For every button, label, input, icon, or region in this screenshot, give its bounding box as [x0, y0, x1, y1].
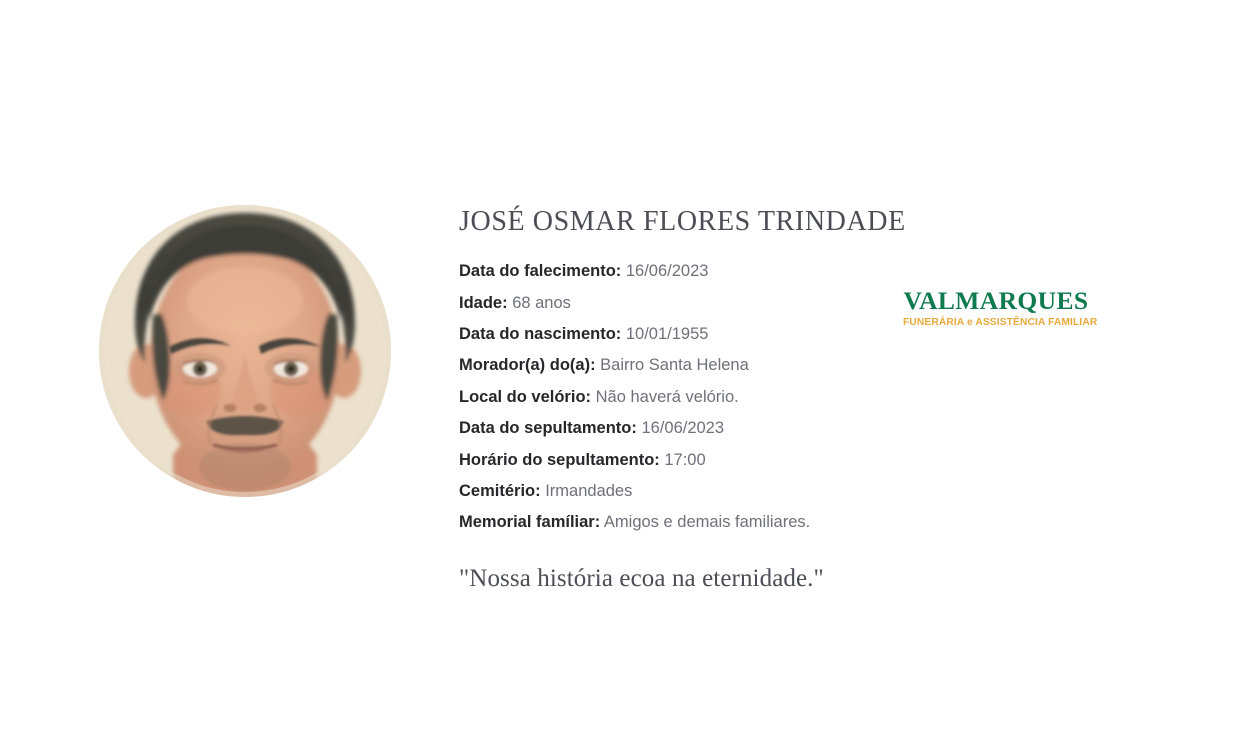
obituary-card: JOSÉ OSMAR FLORES TRINDADE Data do falec… — [0, 0, 1236, 754]
logo-wordmark: VALMARQUES — [903, 288, 1089, 314]
detail-row-cemiterio: Cemitério: Irmandades — [459, 476, 1019, 507]
detail-value: Irmandades — [545, 482, 632, 500]
detail-label: Data do nascimento: — [459, 325, 621, 343]
detail-row-local-velorio: Local do velório: Não haverá velório. — [459, 382, 1019, 413]
detail-label: Memorial famíliar: — [459, 513, 600, 531]
detail-label: Local do velório: — [459, 388, 591, 406]
detail-value: 17:00 — [664, 451, 705, 469]
obituary-info: JOSÉ OSMAR FLORES TRINDADE Data do falec… — [459, 206, 1019, 593]
person-name: JOSÉ OSMAR FLORES TRINDADE — [459, 206, 1019, 238]
detail-row-data-sepultamento: Data do sepultamento: 16/06/2023 — [459, 413, 1019, 444]
detail-value: 68 anos — [512, 294, 571, 312]
logo-tagline: FUNERÁRIA e ASSISTÊNCIA FAMILIAR — [903, 318, 1089, 328]
detail-value: Não haverá velório. — [596, 388, 739, 406]
portrait-photo — [99, 205, 391, 497]
detail-label: Cemitério: — [459, 482, 541, 500]
detail-value: 10/01/1955 — [626, 325, 709, 343]
memorial-quote: "Nossa história ecoa na eternidade." — [459, 565, 1019, 593]
detail-label: Horário do sepultamento: — [459, 451, 660, 469]
detail-label: Data do falecimento: — [459, 262, 621, 280]
detail-value: 16/06/2023 — [626, 262, 709, 280]
valmarques-logo: VALMARQUES FUNERÁRIA e ASSISTÊNCIA FAMIL… — [903, 288, 1089, 328]
detail-value: 16/06/2023 — [641, 419, 724, 437]
detail-value: Bairro Santa Helena — [600, 356, 749, 374]
detail-row-morador: Morador(a) do(a): Bairro Santa Helena — [459, 350, 1019, 381]
detail-row-data-falecimento: Data do falecimento: 16/06/2023 — [459, 256, 1019, 287]
portrait-container — [99, 205, 391, 497]
detail-label: Data do sepultamento: — [459, 419, 637, 437]
portrait-image — [99, 205, 391, 497]
detail-row-horario-sepultamento: Horário do sepultamento: 17:00 — [459, 445, 1019, 476]
detail-label: Idade: — [459, 294, 508, 312]
detail-label: Morador(a) do(a): — [459, 356, 596, 374]
detail-row-memorial-familiar: Memorial famíliar: Amigos e demais famil… — [459, 507, 1019, 538]
detail-value: Amigos e demais familiares. — [604, 513, 810, 531]
